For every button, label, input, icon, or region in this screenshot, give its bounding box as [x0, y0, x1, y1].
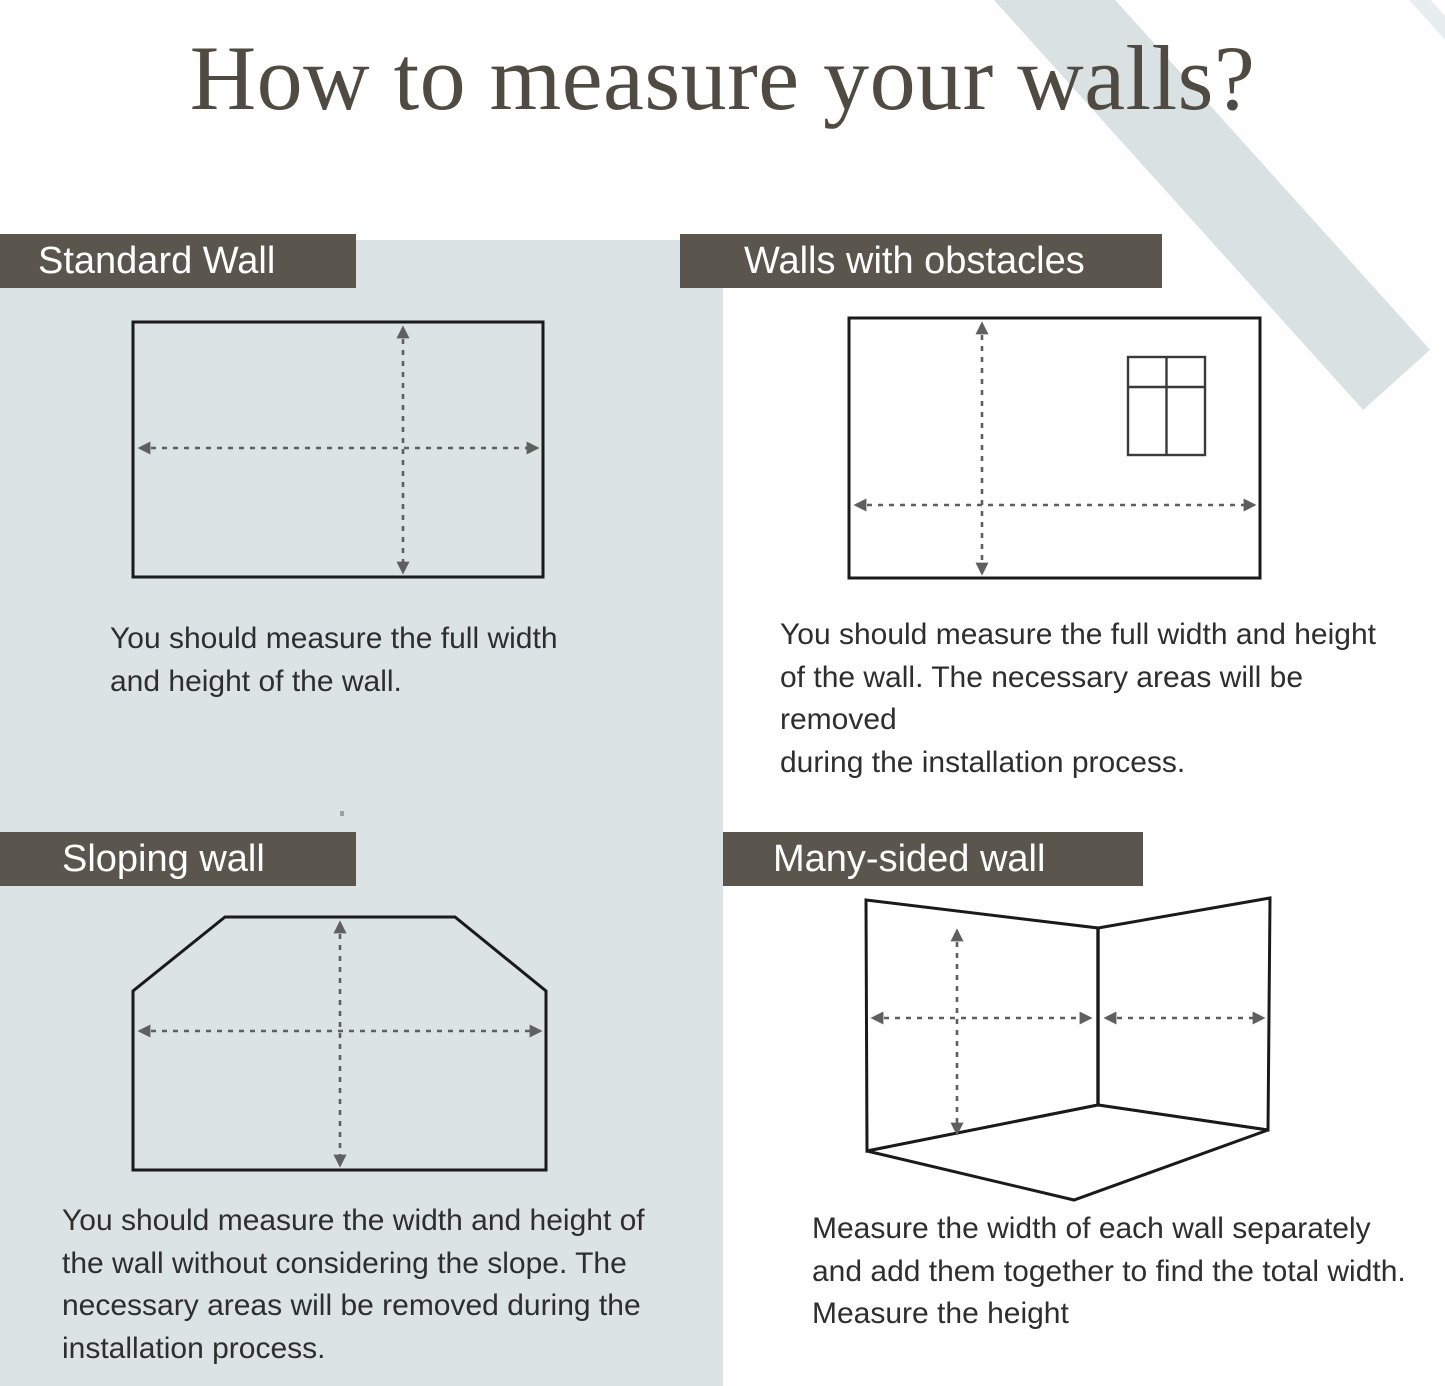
section-header-standard-wall: Standard Wall — [0, 234, 356, 288]
diagram-standard-wall — [110, 300, 570, 600]
section-header-walls-with-obstacles: Walls with obstacles — [680, 234, 1162, 288]
caption-walls-with-obstacles: You should measure the full width and he… — [780, 614, 1420, 784]
infographic-page: How to measure your walls? Standard Wall… — [0, 0, 1445, 1386]
caption-many-sided-wall: Measure the width of each wall separatel… — [812, 1208, 1432, 1336]
caption-sloping-wall: You should measure the width and height … — [62, 1200, 662, 1370]
caption-standard-wall: You should measure the full width and he… — [110, 618, 670, 703]
window-obstacle-icon — [1128, 357, 1205, 455]
diagram-many-sided-wall — [840, 885, 1310, 1215]
wall-outline — [133, 322, 543, 577]
section-header-many-sided-wall: Many-sided wall — [723, 832, 1143, 886]
section-header-sloping-wall: Sloping wall — [0, 832, 356, 886]
diagram-walls-with-obstacles — [830, 300, 1290, 600]
right-wall-face — [1098, 898, 1270, 1130]
diagram-sloping-wall — [110, 895, 570, 1195]
artifact-speck — [340, 811, 344, 816]
page-title: How to measure your walls? — [0, 28, 1445, 129]
